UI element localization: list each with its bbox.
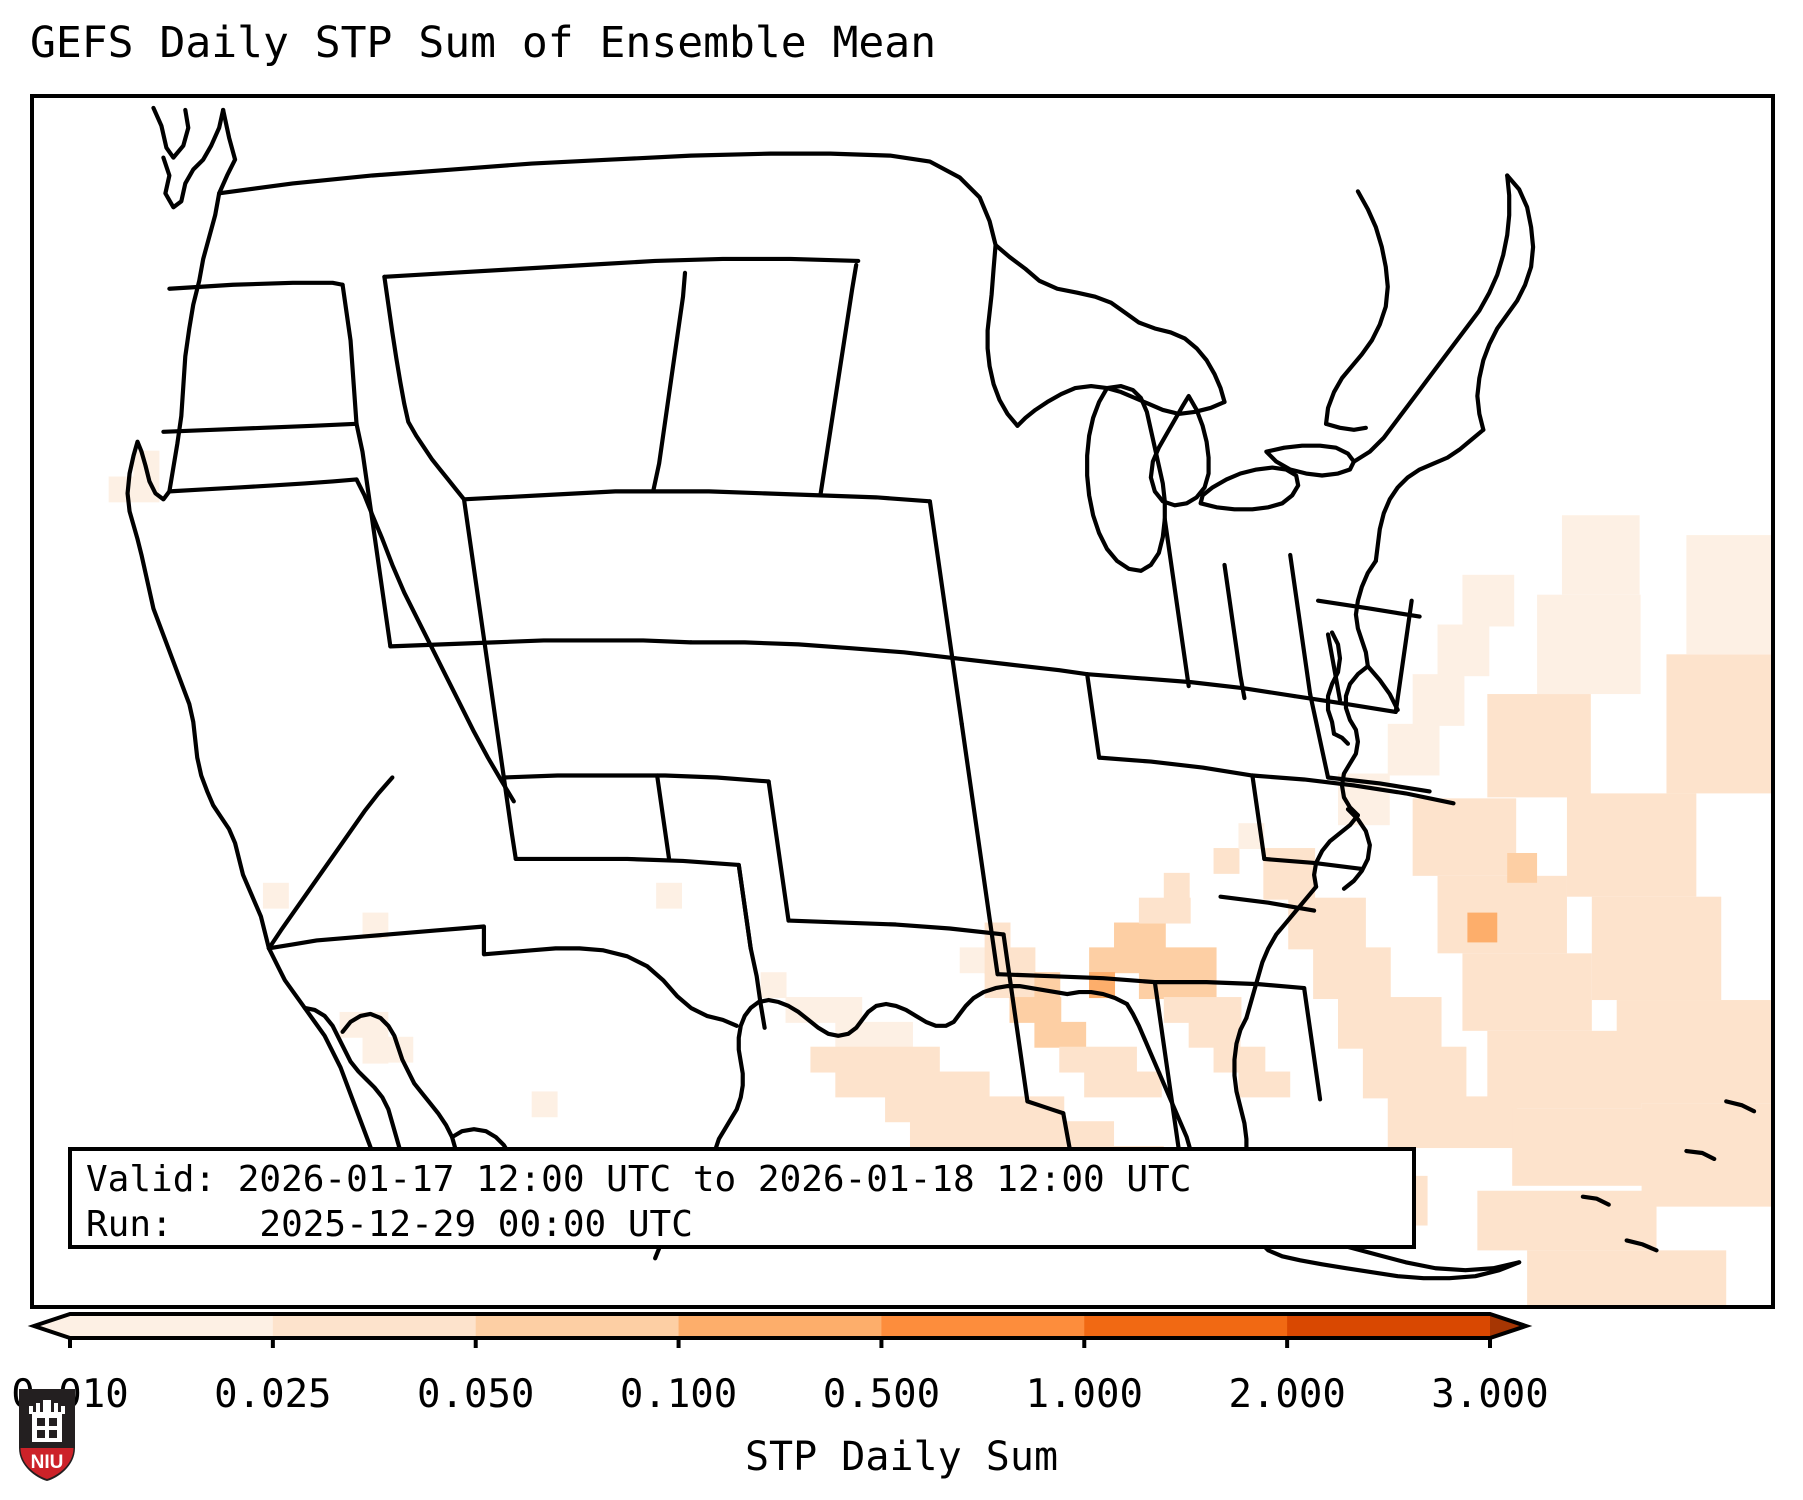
colorbar-tick-label: 0.500 <box>823 1372 940 1418</box>
niu-logo-text: NIU <box>31 1452 64 1473</box>
valid-run-infobox: Valid: 2026-01-17 12:00 UTC to 2026-01-1… <box>68 1147 1416 1249</box>
run-line: Run: 2025-12-29 00:00 UTC <box>86 1202 1398 1247</box>
geography-layer <box>34 98 1771 1305</box>
colorbar-band <box>70 1314 273 1338</box>
page-title: GEFS Daily STP Sum of Ensemble Mean <box>30 16 1730 70</box>
map-canvas <box>34 98 1771 1305</box>
colorbar-tick-label: 2.000 <box>1228 1372 1345 1418</box>
colorbar-band <box>679 1314 882 1338</box>
colorbar-band <box>1084 1314 1287 1338</box>
colorbar-tick-label: 0.050 <box>417 1372 534 1418</box>
colorbar-tick-label: 0.025 <box>214 1372 331 1418</box>
colorbar-band <box>273 1314 476 1338</box>
niu-logo: NIU <box>16 1386 78 1484</box>
colorbar-band <box>476 1314 679 1338</box>
colorbar-axis-label: STP Daily Sum <box>0 1432 1803 1482</box>
colorbar <box>0 1308 1803 1348</box>
colorbar-tick-label: 3.000 <box>1431 1372 1548 1418</box>
figure-root: GEFS Daily STP Sum of Ensemble Mean <box>0 0 1803 1500</box>
colorbar-tick-label: 0.100 <box>620 1372 737 1418</box>
colorbar-tick-label: 1.000 <box>1026 1372 1143 1418</box>
colorbar-band <box>881 1314 1084 1338</box>
colorbar-tick-labels: 0.0100.0250.0500.1000.5001.0002.0003.000 <box>0 1372 1803 1422</box>
colorbar-band <box>1287 1314 1490 1338</box>
map-axes <box>30 94 1775 1309</box>
niu-shield: NIU <box>19 1389 75 1481</box>
valid-line: Valid: 2026-01-17 12:00 UTC to 2026-01-1… <box>86 1157 1398 1202</box>
colorbar-svg <box>0 1308 1803 1348</box>
